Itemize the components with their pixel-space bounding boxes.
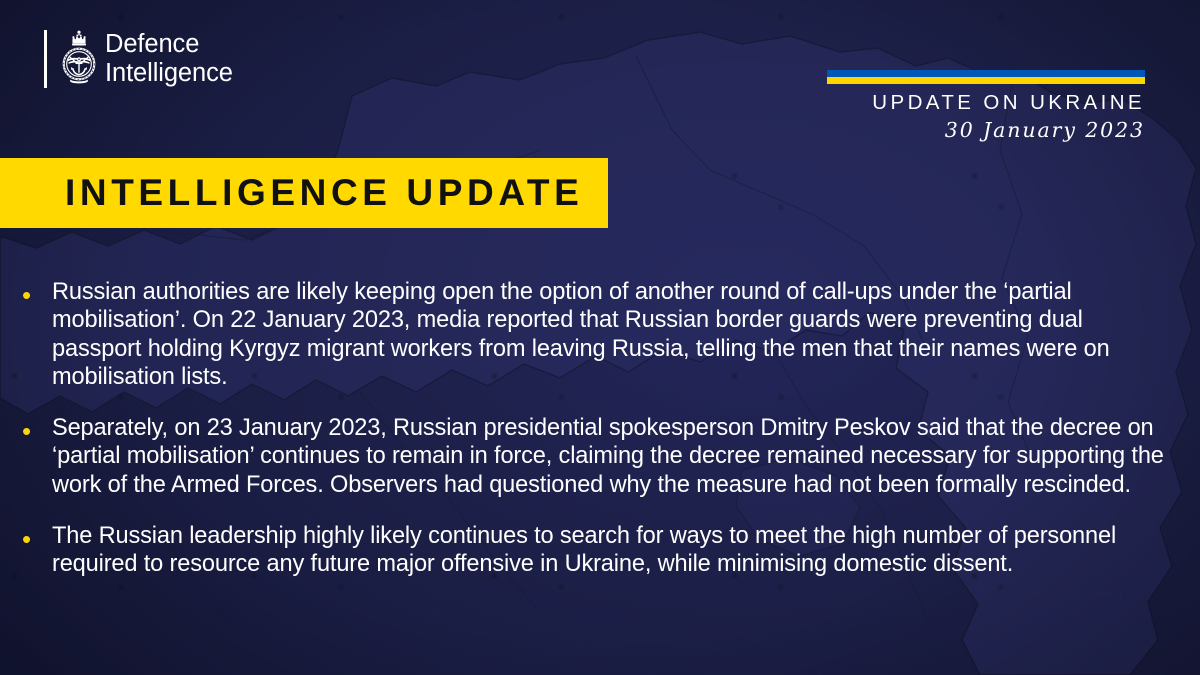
defence-intelligence-logo: Defence Intelligence [44, 30, 233, 89]
list-item: • The Russian leadership highly likely c… [0, 522, 1200, 579]
vertical-rule-icon [44, 30, 47, 88]
logo-line-intelligence: Intelligence [105, 59, 233, 88]
header-right-block: UPDATE ON UKRAINE 30 January 2023 [872, 33, 1145, 142]
slide-header: Defence Intelligence UPDATE ON UKRAINE 3… [0, 0, 1200, 150]
intelligence-update-banner: INTELLIGENCE UPDATE [0, 158, 608, 228]
bullet-marker-icon: • [22, 278, 52, 391]
bullet-marker-icon: • [22, 522, 52, 579]
bullet-text: Russian authorities are likely keeping o… [52, 278, 1178, 391]
bullet-list: • Russian authorities are likely keeping… [0, 278, 1200, 602]
footnote-lorem-ipsum: Lorem Ipsum [1053, 588, 1122, 600]
logo-wordmark: Defence Intelligence [105, 30, 233, 89]
update-date: 30 January 2023 [872, 118, 1145, 142]
logo-line-defence: Defence [105, 30, 233, 59]
bullet-text: The Russian leadership highly likely con… [52, 522, 1178, 579]
bullet-marker-icon: • [22, 414, 52, 499]
list-item: • Russian authorities are likely keeping… [0, 278, 1200, 391]
banner-label: INTELLIGENCE UPDATE [65, 172, 583, 214]
bullet-text: Separately, on 23 January 2023, Russian … [52, 414, 1178, 499]
intelligence-update-slide: Defence Intelligence UPDATE ON UKRAINE 3… [0, 0, 1200, 675]
mod-defence-crest-icon [61, 29, 97, 89]
update-on-ukraine-title: UPDATE ON UKRAINE [872, 91, 1145, 115]
flag-yellow-stripe [827, 77, 1145, 84]
ukraine-flag-bar-icon [827, 70, 1145, 84]
flag-blue-stripe [827, 70, 1145, 77]
list-item: • Separately, on 23 January 2023, Russia… [0, 414, 1200, 499]
